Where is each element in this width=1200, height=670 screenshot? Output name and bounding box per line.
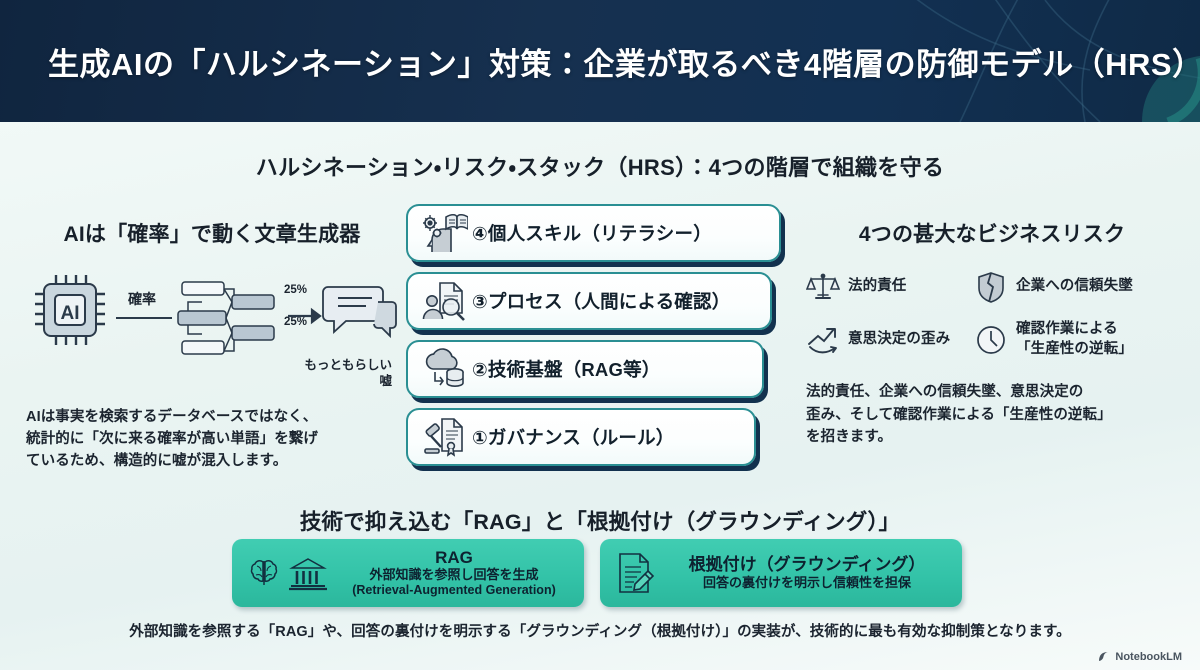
cloud-database-icon: [422, 348, 468, 390]
head-gear-book-icon: [422, 212, 468, 254]
notebooklm-brand: NotebookLM: [1097, 650, 1182, 663]
risk-item-trust: 企業への信頼失墜: [974, 270, 1178, 304]
risk-item-decision: 意思決定の歪み: [806, 323, 974, 357]
notebooklm-label: NotebookLM: [1115, 651, 1182, 663]
left-body-line-2: 統計的に「次に来る確率が高い単語」を繋げ: [26, 428, 398, 450]
risk-item-legal: 法的責任: [806, 270, 974, 304]
risk-item-trust-text: 企業への信頼失墜: [1016, 277, 1133, 297]
brain-icon: [246, 555, 282, 591]
zigzag-arrow-icon: [806, 323, 840, 357]
risk-item-productivity-text: 確認作業による 「生産性の逆転」: [1016, 320, 1133, 359]
card-rag-caption: (Retrieval-Augmented Generation): [338, 583, 570, 598]
card-grounding-title: 根拠付け（グラウンディング）: [666, 555, 948, 575]
left-body-line-3: ているため、構造的に嘘が混入します。: [26, 450, 398, 472]
stack-layer-3-label: ③プロセス（人間による確認）: [472, 288, 730, 314]
right-panel: 4つの甚大なビジネスリスク 法的責任: [806, 218, 1178, 449]
notebooklm-logo-icon: [1097, 650, 1110, 663]
header-banner: 生成AIの「ハルシネーション」対策：企業が取るべき4階層の防御モデル（HRS）: [0, 0, 1200, 122]
page-title: 生成AIの「ハルシネーション」対策：企業が取るべき4階層の防御モデル（HRS）: [48, 0, 1200, 122]
risk-item-legal-text: 法的責任: [848, 277, 906, 297]
output-label-line-1: もっともらしい: [304, 358, 392, 372]
right-body-line-1: 法的責任、企業への信頼失墜、意思決定の: [806, 381, 1178, 403]
right-body-line-2: 歪み、そして確認作業による「生産性の逆転」: [806, 404, 1178, 426]
gavel-document-icon: [422, 416, 468, 458]
card-rag-text: RAG 外部知識を参照し回答を生成 (Retrieval-Augmented G…: [338, 548, 570, 599]
right-panel-body: 法的責任、企業への信頼失墜、意思決定の 歪み、そして確認作業による「生産性の逆転…: [806, 381, 1178, 448]
card-rag[interactable]: RAG 外部知識を参照し回答を生成 (Retrieval-Augmented G…: [232, 539, 584, 607]
probability-tree: [178, 282, 274, 354]
cracked-shield-icon: [974, 270, 1008, 304]
right-body-line-3: を招きます。: [806, 426, 1178, 448]
branch-prob-2: 25%: [284, 316, 307, 328]
infographic-slide: 生成AIの「ハルシネーション」対策：企業が取るべき4階層の防御モデル（HRS） …: [0, 0, 1200, 670]
bank-icon: [288, 555, 328, 591]
stack-layer-2[interactable]: ②技術基盤（RAG等）: [406, 340, 764, 398]
branch-prob-1: 25%: [284, 284, 307, 296]
probability-label: 確率: [127, 291, 156, 307]
risk-grid: 法的責任 企業への信頼失墜: [806, 270, 1178, 359]
scales-icon: [806, 270, 840, 304]
clock-icon: [974, 323, 1008, 357]
card-grounding[interactable]: 根拠付け（グラウンディング） 回答の裏付けを明示し信頼性を担保: [600, 539, 962, 607]
stack-layer-2-label: ②技術基盤（RAG等）: [472, 356, 660, 382]
stack-heading: ハルシネーション・リスク・スタック（HRS）：4つの階層で組織を守る: [0, 150, 1200, 182]
card-grounding-subtitle: 回答の裏付けを明示し信頼性を担保: [666, 575, 948, 591]
card-grounding-icons: [614, 551, 656, 595]
technique-cards: RAG 外部知識を参照し回答を生成 (Retrieval-Augmented G…: [232, 539, 962, 607]
speech-bubble-icon: [323, 287, 396, 336]
risk-item-productivity: 確認作業による 「生産性の逆転」: [974, 320, 1178, 359]
left-panel-heading: AIは「確率」で動く文章生成器: [26, 218, 398, 248]
stack-layer-1-label: ①ガバナンス（ルール）: [472, 424, 675, 450]
card-rag-icons: [246, 555, 328, 591]
risk-item-decision-text: 意思決定の歪み: [848, 330, 950, 350]
left-panel: AIは「確率」で動く文章生成器 AI 確率: [26, 218, 398, 473]
svg-text:AI: AI: [61, 303, 80, 324]
stack-layer-1[interactable]: ①ガバナンス（ルール）: [406, 408, 756, 466]
probability-diagram: AI 確率 25% 25%: [26, 264, 398, 356]
person-document-magnifier-icon: [422, 280, 468, 322]
tech-heading: 技術で抑え込む「RAG」と「根拠付け（グラウンディング）」: [0, 505, 1200, 536]
card-rag-title: RAG: [338, 548, 570, 568]
right-panel-heading: 4つの甚大なビジネスリスク: [806, 218, 1178, 248]
card-grounding-text: 根拠付け（グラウンディング） 回答の裏付けを明示し信頼性を担保: [666, 555, 948, 591]
left-panel-body: AIは事実を検索するデータベースではなく、 統計的に「次に来る確率が高い単語」を…: [26, 406, 398, 473]
stack-layer-4-label: ④個人スキル（リテラシー）: [472, 220, 712, 246]
hrs-stack: ④個人スキル（リテラシー） ③プロセス（人間による確認）: [406, 204, 794, 466]
footer-note: 外部知識を参照する「RAG」や、回答の裏付けを明示する「グラウンディング（根拠付…: [0, 620, 1200, 641]
stack-layer-4[interactable]: ④個人スキル（リテラシー）: [406, 204, 781, 262]
output-label-line-2: 嘘: [379, 374, 392, 388]
document-pen-icon: [614, 551, 656, 595]
left-body-line-1: AIは事実を検索するデータベースではなく、: [26, 406, 398, 428]
stack-layer-3[interactable]: ③プロセス（人間による確認）: [406, 272, 772, 330]
card-rag-subtitle: 外部知識を参照し回答を生成: [338, 567, 570, 583]
